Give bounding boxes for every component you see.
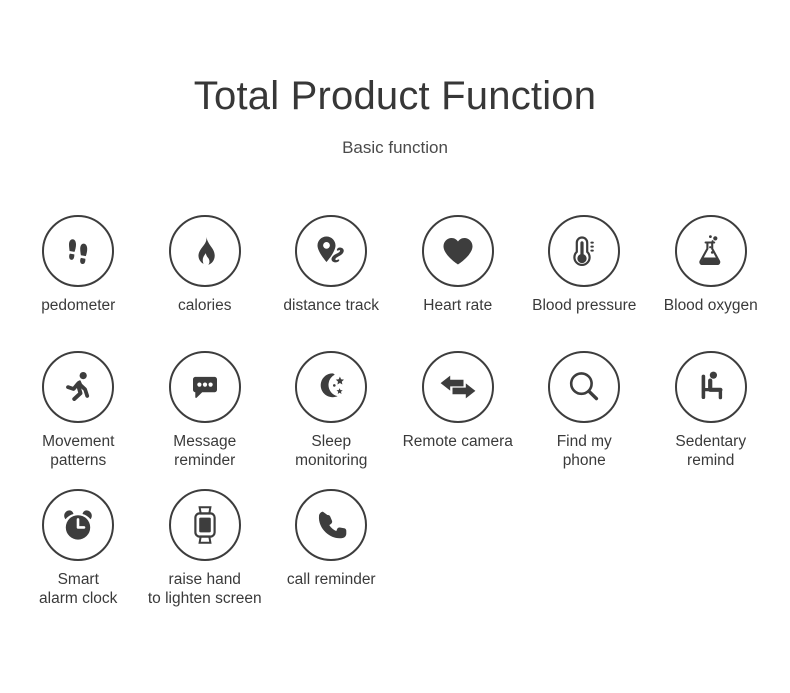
two-arrows-icon xyxy=(437,366,479,408)
feature-item-sleep-monitoring[interactable]: Sleep monitoring xyxy=(268,351,395,489)
feature-item-blood-oxygen[interactable]: Blood oxygen xyxy=(648,215,775,351)
label-line-1: raise hand xyxy=(169,571,241,588)
label-line-1: call reminder xyxy=(287,571,376,588)
label-line-1: calories xyxy=(178,297,231,314)
icon-circle xyxy=(548,351,620,423)
label-line-1: Heart rate xyxy=(423,297,492,314)
feature-item-calories[interactable]: calories xyxy=(142,215,269,351)
alarm-clock-icon xyxy=(57,504,99,546)
feature-label: Sedentary remind xyxy=(675,432,746,470)
phone-handset-icon xyxy=(311,505,351,545)
feature-item-remote-camera[interactable]: Remote camera xyxy=(395,351,522,489)
smartwatch-icon xyxy=(185,503,225,547)
feature-label: Message reminder xyxy=(173,432,236,470)
icon-circle xyxy=(42,215,114,287)
moon-stars-icon xyxy=(311,367,351,407)
flame-icon xyxy=(185,231,225,271)
feature-item-heart-rate[interactable]: Heart rate xyxy=(395,215,522,351)
footprints-icon xyxy=(58,231,98,271)
icon-circle xyxy=(295,489,367,561)
label-line-1: pedometer xyxy=(41,297,115,314)
icon-circle xyxy=(422,351,494,423)
heart-icon xyxy=(438,231,478,271)
feature-item-blood-pressure[interactable]: Blood pressure xyxy=(521,215,648,351)
header: Total Product Function Basic function xyxy=(0,0,790,158)
label-line-1: distance track xyxy=(283,297,379,314)
icon-circle xyxy=(675,351,747,423)
label-line-1: Movement xyxy=(42,433,114,450)
seated-person-icon xyxy=(690,366,732,408)
running-person-icon xyxy=(58,367,98,407)
feature-item-find-my-phone[interactable]: Find my phone xyxy=(521,351,648,489)
label-line-1: Smart xyxy=(58,571,99,588)
feature-item-smart-alarm-clock[interactable]: Smart alarm clock xyxy=(15,489,142,619)
feature-item-message-reminder[interactable]: Message reminder xyxy=(142,351,269,489)
feature-label: Heart rate xyxy=(423,296,492,315)
feature-item-empty xyxy=(395,489,522,619)
label-line-2: to lighten screen xyxy=(148,590,262,607)
feature-label: calories xyxy=(178,296,231,315)
feature-grid: pedometer calories xyxy=(15,215,775,619)
feature-label: Movement patterns xyxy=(42,432,114,470)
thermometer-icon xyxy=(564,231,604,271)
icon-circle xyxy=(169,489,241,561)
icon-circle xyxy=(422,215,494,287)
label-line-1: Sedentary xyxy=(675,433,746,450)
feature-label: Smart alarm clock xyxy=(39,570,117,608)
feature-label: Find my phone xyxy=(557,432,612,470)
icon-circle xyxy=(295,215,367,287)
label-line-1: Sleep xyxy=(311,433,351,450)
label-line-1: Blood oxygen xyxy=(664,297,758,314)
label-line-1: Remote camera xyxy=(403,433,513,450)
icon-circle xyxy=(548,215,620,287)
label-line-2: patterns xyxy=(50,452,106,469)
feature-label: raise hand to lighten screen xyxy=(148,570,262,608)
feature-row: Movement patterns Mes xyxy=(15,351,775,489)
feature-label: distance track xyxy=(283,296,379,315)
infographic-page: Total Product Function Basic function xyxy=(0,0,790,693)
icon-circle xyxy=(42,489,114,561)
feature-item-distance-track[interactable]: distance track xyxy=(268,215,395,351)
feature-label: Blood pressure xyxy=(532,296,636,315)
icon-circle xyxy=(42,351,114,423)
label-line-2: remind xyxy=(687,452,734,469)
label-line-1: Find my xyxy=(557,433,612,450)
feature-row: pedometer calories xyxy=(15,215,775,351)
feature-item-pedometer[interactable]: pedometer xyxy=(15,215,142,351)
label-line-1: Message xyxy=(173,433,236,450)
feature-label: pedometer xyxy=(41,296,115,315)
flask-icon xyxy=(691,231,731,271)
feature-label: call reminder xyxy=(287,570,376,589)
magnifier-icon xyxy=(563,366,605,408)
label-line-2: monitoring xyxy=(295,452,367,469)
feature-label: Remote camera xyxy=(403,432,513,451)
icon-circle xyxy=(169,351,241,423)
feature-item-sedentary-remind[interactable]: Sedentary remind xyxy=(648,351,775,489)
feature-item-raise-hand-to-lighten-screen[interactable]: raise hand to lighten screen xyxy=(142,489,269,619)
page-subtitle: Basic function xyxy=(0,118,790,158)
feature-label: Sleep monitoring xyxy=(295,432,367,470)
label-line-2: reminder xyxy=(174,452,235,469)
label-line-1: Blood pressure xyxy=(532,297,636,314)
map-pin-route-icon xyxy=(310,230,352,272)
feature-item-empty xyxy=(521,489,648,619)
feature-label: Blood oxygen xyxy=(664,296,758,315)
icon-circle xyxy=(169,215,241,287)
label-line-2: phone xyxy=(563,452,606,469)
icon-circle xyxy=(675,215,747,287)
icon-circle xyxy=(295,351,367,423)
feature-row: Smart alarm clock rai xyxy=(15,489,775,619)
label-line-2: alarm clock xyxy=(39,590,117,607)
page-title: Total Product Function xyxy=(0,74,790,118)
feature-item-call-reminder[interactable]: call reminder xyxy=(268,489,395,619)
feature-item-movement-patterns[interactable]: Movement patterns xyxy=(15,351,142,489)
feature-item-empty xyxy=(648,489,775,619)
message-bubble-icon xyxy=(185,367,225,407)
